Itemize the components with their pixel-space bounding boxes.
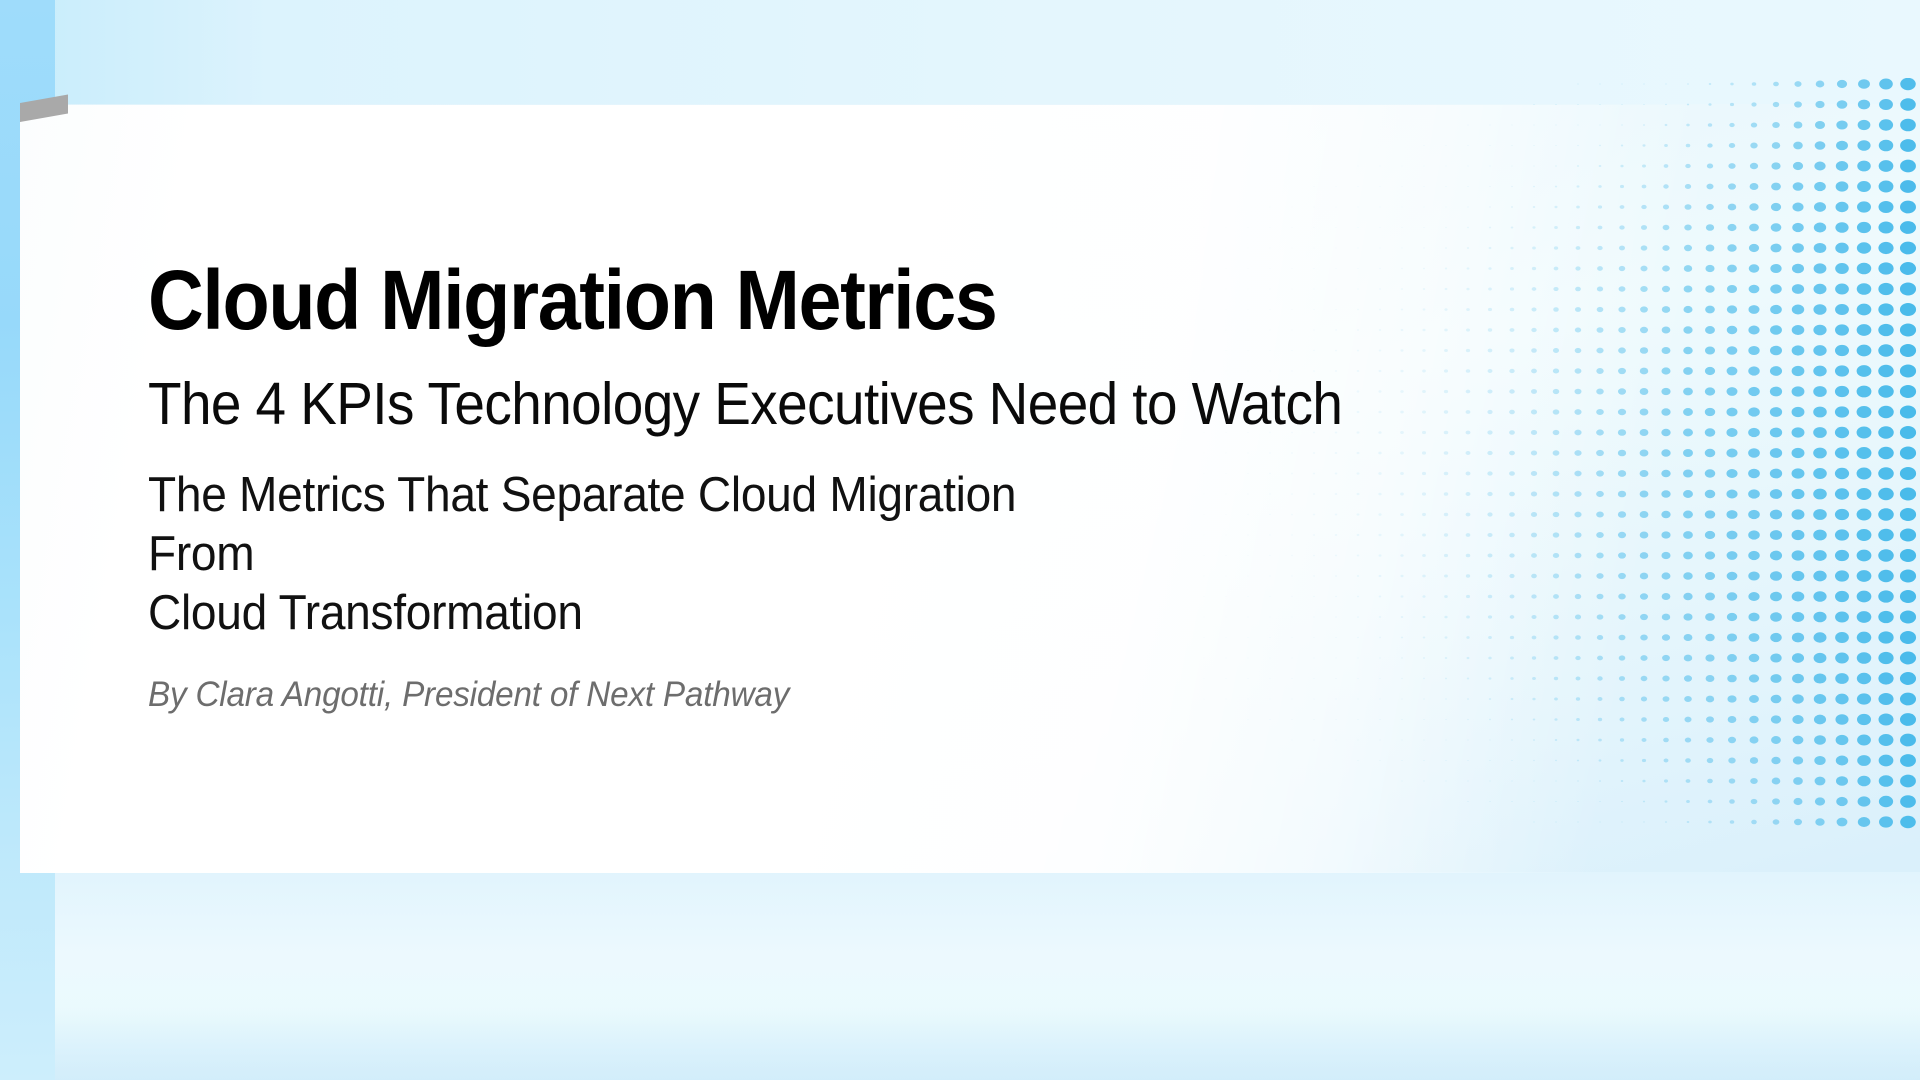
page-subtitle: The 4 KPIs Technology Executives Need to… [148, 374, 1450, 436]
background-wash-top [0, 0, 1920, 104]
author-byline: By Clara Angotti, President of Next Path… [148, 676, 1478, 715]
slide-content: Cloud Migration Metrics The 4 KPIs Techn… [148, 258, 1548, 715]
presentation-slide: Cloud Migration Metrics The 4 KPIs Techn… [0, 0, 1920, 1080]
page-deck: The Metrics That Separate Cloud Migratio… [148, 466, 1097, 642]
deck-line-2: Cloud Transformation [148, 586, 583, 640]
deck-line-1: The Metrics That Separate Cloud Migratio… [148, 468, 1016, 581]
background-wash-floor [0, 1006, 1920, 1080]
page-title: Cloud Migration Metrics [148, 258, 1436, 342]
